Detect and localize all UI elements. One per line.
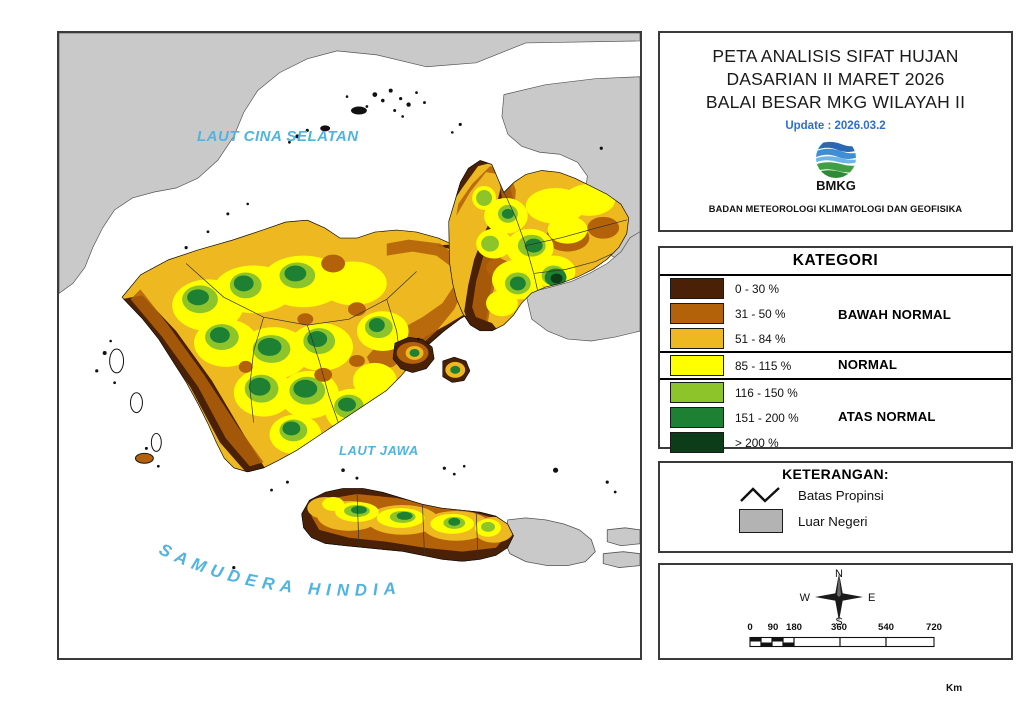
legend-row: 51 - 84 %	[660, 326, 1011, 351]
legend-swatch-51-84	[670, 328, 724, 349]
legend-row: 116 - 150 %	[660, 380, 1011, 405]
scale-unit-label: Km	[946, 683, 962, 694]
scale-tick-720: 720	[926, 622, 942, 633]
bmkg-logo-text: BMKG	[816, 178, 856, 192]
foreign-area-icon	[738, 509, 784, 533]
scale-tick-180: 180	[786, 622, 802, 633]
legend-group-label-normal: NORMAL	[838, 357, 897, 372]
legend-row: 85 - 115 %	[660, 353, 1011, 378]
map-canvas	[59, 33, 640, 658]
compass-scale-panel: N S W E 0 90 180 360 540 720	[658, 563, 1013, 660]
agency-name: BADAN METEOROLOGI KLIMATOLOGI DAN GEOFIS…	[660, 204, 1011, 214]
legend-row: 31 - 50 %	[660, 301, 1011, 326]
keterangan-label-luar-negeri: Luar Negeri	[798, 514, 867, 529]
compass-west-label: W	[800, 592, 811, 604]
legend-row: 151 - 200 %	[660, 405, 1011, 430]
legend-range-51-84: 51 - 84 %	[735, 332, 821, 346]
title-line-1: PETA ANALISIS SIFAT HUJAN	[660, 45, 1011, 68]
bmkg-logo-icon: BMKG	[805, 136, 867, 192]
scale-tick-90: 90	[768, 622, 779, 633]
legend-range-over-200: > 200 %	[735, 436, 821, 450]
map-frame: LAUT CINA SELATAN LAUT JAWA SAMUDERA HIN…	[57, 31, 642, 660]
legend-row: > 200 %	[660, 430, 1011, 455]
legend-range-85-115: 85 - 115 %	[735, 359, 821, 373]
update-timestamp: Update : 2026.03.2	[660, 120, 1011, 132]
keterangan-label-batas-propinsi: Batas Propinsi	[798, 488, 884, 503]
legend-group-label-bawah-normal: BAWAH NORMAL	[838, 307, 951, 322]
legend-range-151-200: 151 - 200 %	[735, 411, 821, 425]
keterangan-item-batas-propinsi: Batas Propinsi	[660, 482, 1011, 508]
legend-swatch-85-115	[670, 355, 724, 376]
legend-range-31-50: 31 - 50 %	[735, 307, 821, 321]
compass-rose-icon: N S W E	[796, 569, 882, 625]
map-title: PETA ANALISIS SIFAT HUJAN DASARIAN II MA…	[660, 33, 1011, 114]
keterangan-header: KETERANGAN:	[660, 463, 1011, 482]
scale-tick-labels: 0 90 180 360 540 720	[746, 622, 976, 636]
legend-swatch-0-30	[670, 278, 724, 299]
keterangan-panel: KETERANGAN: Batas Propinsi Luar Negeri	[658, 461, 1013, 553]
legend-range-0-30: 0 - 30 %	[735, 282, 821, 296]
scale-bar: 0 90 180 360 540 720	[746, 622, 976, 649]
legend-group-label-atas-normal: ATAS NORMAL	[838, 409, 936, 424]
kategori-group-normal: 85 - 115 % NORMAL	[660, 351, 1011, 378]
scale-bar-graphic	[746, 636, 946, 649]
legend-row: 0 - 30 %	[660, 276, 1011, 301]
title-line-2: DASARIAN II MARET 2026	[660, 68, 1011, 91]
boundary-line-icon	[738, 486, 784, 504]
keterangan-item-luar-negeri: Luar Negeri	[660, 508, 1011, 534]
legend-swatch-116-150	[670, 382, 724, 403]
compass-north-label: N	[835, 569, 843, 580]
scale-tick-0: 0	[747, 622, 752, 633]
legend-swatch-over-200	[670, 432, 724, 453]
kategori-group-bawah-normal: 0 - 30 % 31 - 50 % 51 - 84 % BAWAH NORMA…	[660, 276, 1011, 351]
legend-swatch-151-200	[670, 407, 724, 428]
kategori-panel: KATEGORI 0 - 30 % 31 - 50 % 51 - 84 % BA…	[658, 246, 1013, 449]
legend-range-116-150: 116 - 150 %	[735, 386, 821, 400]
title-line-3: BALAI BESAR MKG WILAYAH II	[660, 91, 1011, 114]
scale-tick-540: 540	[878, 622, 894, 633]
legend-swatch-31-50	[670, 303, 724, 324]
scale-tick-360: 360	[831, 622, 847, 633]
kategori-header: KATEGORI	[660, 248, 1011, 276]
title-panel: PETA ANALISIS SIFAT HUJAN DASARIAN II MA…	[658, 31, 1013, 232]
kategori-group-atas-normal: 116 - 150 % 151 - 200 % > 200 % ATAS NOR…	[660, 378, 1011, 455]
bmkg-logo: BMKG	[660, 136, 1011, 192]
compass-east-label: E	[868, 592, 875, 604]
